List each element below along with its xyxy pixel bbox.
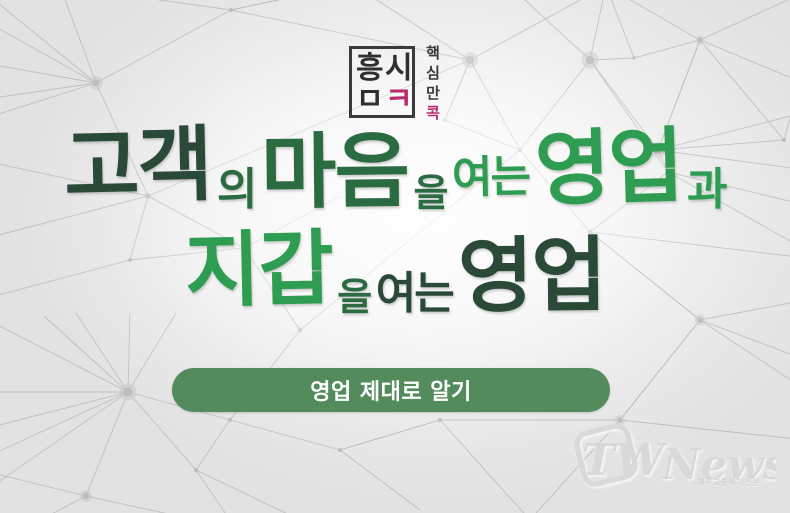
brand-logo: 흥 시 ㅁ ㅋ 핵 심 만 콕 bbox=[349, 44, 449, 128]
watermark-news: News bbox=[660, 440, 776, 489]
cta-button-label: 영업 제대로 알기 bbox=[310, 374, 472, 406]
logo-vertical-char-4: 콕 bbox=[426, 104, 440, 124]
headline-word: 영업 bbox=[458, 235, 606, 319]
logo-glyph-3: ㅁ bbox=[356, 85, 383, 115]
logo-glyph-1: 흥 bbox=[356, 54, 383, 84]
poster-canvas: 흥 시 ㅁ ㅋ 핵 심 만 콕 고객 의 마음 을 여는 영업 과 지갑 을 여… bbox=[0, 0, 790, 513]
watermark-badge-shape bbox=[574, 423, 637, 486]
headline-word: 마음 bbox=[261, 131, 409, 215]
watermark-logo: TW News 제주교통복지신문 bbox=[564, 417, 776, 503]
headline-word: 의 bbox=[217, 168, 255, 212]
headline-word: 고객 bbox=[64, 124, 213, 209]
logo-vertical-char-2: 심 bbox=[426, 64, 440, 84]
headline-line-1: 고객 의 마음 을 여는 영업 과 bbox=[0, 130, 790, 230]
logo-vertical-char-3: 만 bbox=[426, 84, 440, 104]
headline-word: 영업 bbox=[533, 126, 682, 212]
logo-glyph-2: 시 bbox=[385, 54, 412, 84]
headline-word: 을 bbox=[413, 174, 446, 212]
logo-vertical-text: 핵 심 만 콕 bbox=[421, 44, 445, 124]
watermark-subtitle: 제주교통복지신문 bbox=[697, 477, 760, 488]
logo-glyph-4-accent: ㅋ bbox=[385, 85, 412, 115]
headline-word: 여는 bbox=[452, 155, 530, 200]
logo-frame: 흥 시 ㅁ ㅋ bbox=[349, 46, 415, 118]
watermark-tw: TW bbox=[582, 435, 669, 486]
headline-word: 지갑 bbox=[184, 228, 333, 313]
headline-block: 고객 의 마음 을 여는 영업 과 지갑 을 여는 영업 bbox=[0, 130, 790, 326]
headline-word: 과 bbox=[687, 168, 725, 212]
cta-button[interactable]: 영업 제대로 알기 bbox=[172, 368, 610, 412]
headline-line-2: 지갑 을 여는 영업 bbox=[0, 234, 790, 326]
headline-word: 을 bbox=[337, 278, 370, 316]
headline-word: 여는 bbox=[376, 272, 453, 316]
logo-vertical-char-1: 핵 bbox=[426, 44, 440, 64]
